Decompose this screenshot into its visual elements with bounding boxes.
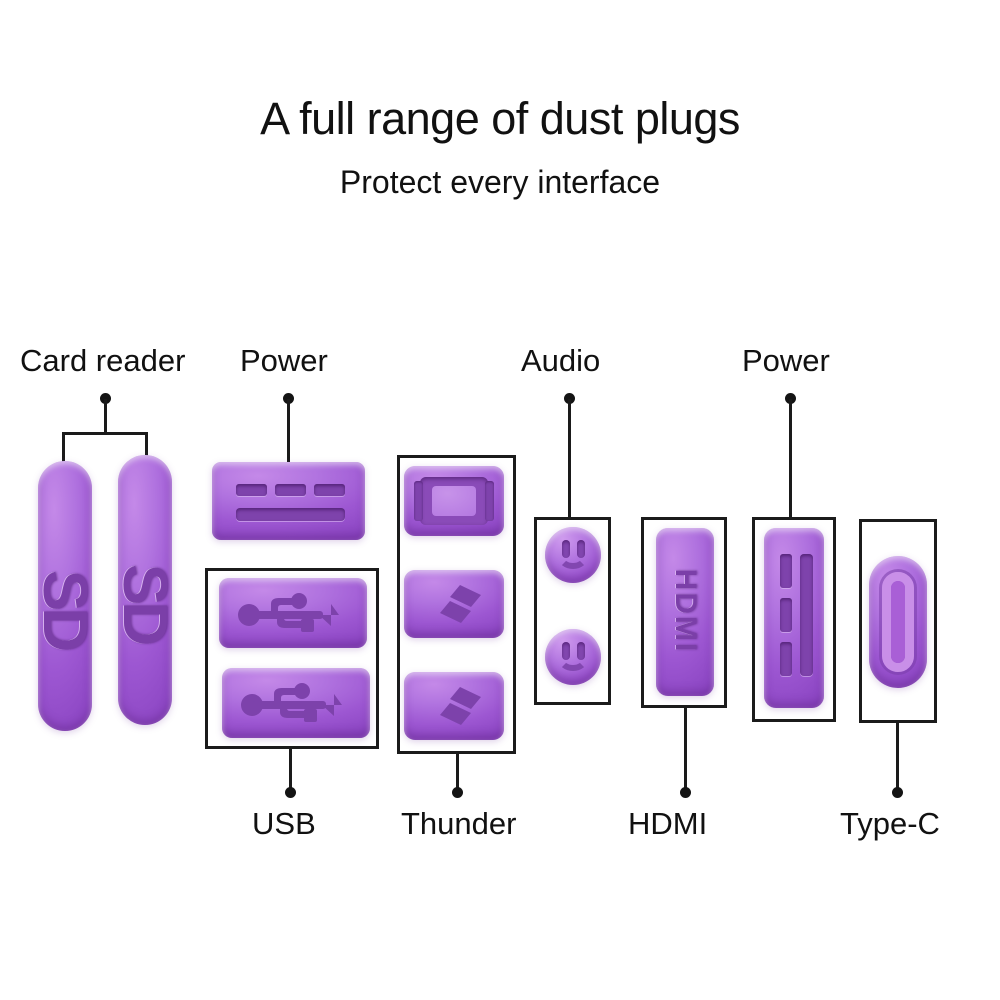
page-title: A full range of dust plugs: [0, 96, 1000, 141]
sd-icon: SD: [19, 570, 109, 626]
usb-icon: [237, 590, 353, 636]
thunderbolt-icon: [424, 684, 486, 728]
label-thunder: Thunder: [401, 808, 516, 839]
plug-thunderbolt-2: [404, 672, 504, 740]
plug-power-horizontal: [212, 462, 365, 540]
plug-audio-1: [545, 527, 601, 583]
label-hdmi: HDMI: [628, 808, 707, 839]
label-power-top: Power: [240, 345, 328, 376]
leader-bracket-card-reader: [62, 432, 148, 435]
infographic-canvas: A full range of dust plugs Protect every…: [0, 0, 1000, 1000]
leader-dot-hdmi: [680, 787, 691, 798]
plug-hdmi: HDMI: [656, 528, 714, 696]
usb-icon: [240, 680, 356, 726]
power-dash-1: [236, 484, 267, 496]
plug-type-c: [869, 556, 927, 688]
plug-audio-2: [545, 629, 601, 685]
sd-icon: SD: [99, 564, 189, 620]
display-icon-screen: [432, 486, 476, 516]
power-dash-3: [314, 484, 345, 496]
power-dash-1: [780, 554, 792, 588]
power-bar: [236, 508, 345, 521]
leader-dot-thunder: [452, 787, 463, 798]
plug-usb-1: [219, 578, 367, 648]
label-power-right: Power: [742, 345, 830, 376]
label-card-reader: Card reader: [20, 345, 185, 376]
leader-dot-type-c: [892, 787, 903, 798]
headphone-band: [558, 545, 588, 569]
display-icon-side-right: [485, 481, 494, 521]
type-c-core-icon: [891, 581, 905, 663]
plug-card-reader-2: SD: [118, 455, 172, 725]
label-type-c: Type-C: [840, 808, 940, 839]
plug-card-reader-1: SD: [38, 461, 92, 731]
power-dash-2: [275, 484, 306, 496]
leader-stem-power-right: [789, 399, 792, 518]
display-icon-side-left: [414, 481, 423, 521]
label-audio: Audio: [521, 345, 600, 376]
plug-usb-2: [222, 668, 370, 738]
plug-thunderbolt-1: [404, 570, 504, 638]
power-dash-2: [780, 598, 792, 632]
leader-stem-audio: [568, 399, 571, 518]
plug-power-vertical: [764, 528, 824, 708]
leader-stem-type-c: [896, 723, 899, 792]
plug-thunder-display: [404, 466, 504, 536]
leader-stem-power-top: [287, 399, 290, 463]
page-subtitle: Protect every interface: [0, 166, 1000, 198]
leader-dot-usb: [285, 787, 296, 798]
hdmi-text-icon: HDMI: [668, 560, 702, 662]
leader-stem-card-reader: [104, 399, 107, 433]
thunderbolt-icon: [424, 582, 486, 626]
leader-stem-usb: [289, 748, 292, 792]
headphone-band: [558, 647, 588, 671]
power-dash-3: [780, 642, 792, 676]
label-usb: USB: [252, 808, 316, 839]
leader-stem-hdmi: [684, 708, 687, 792]
power-bar: [800, 554, 813, 676]
